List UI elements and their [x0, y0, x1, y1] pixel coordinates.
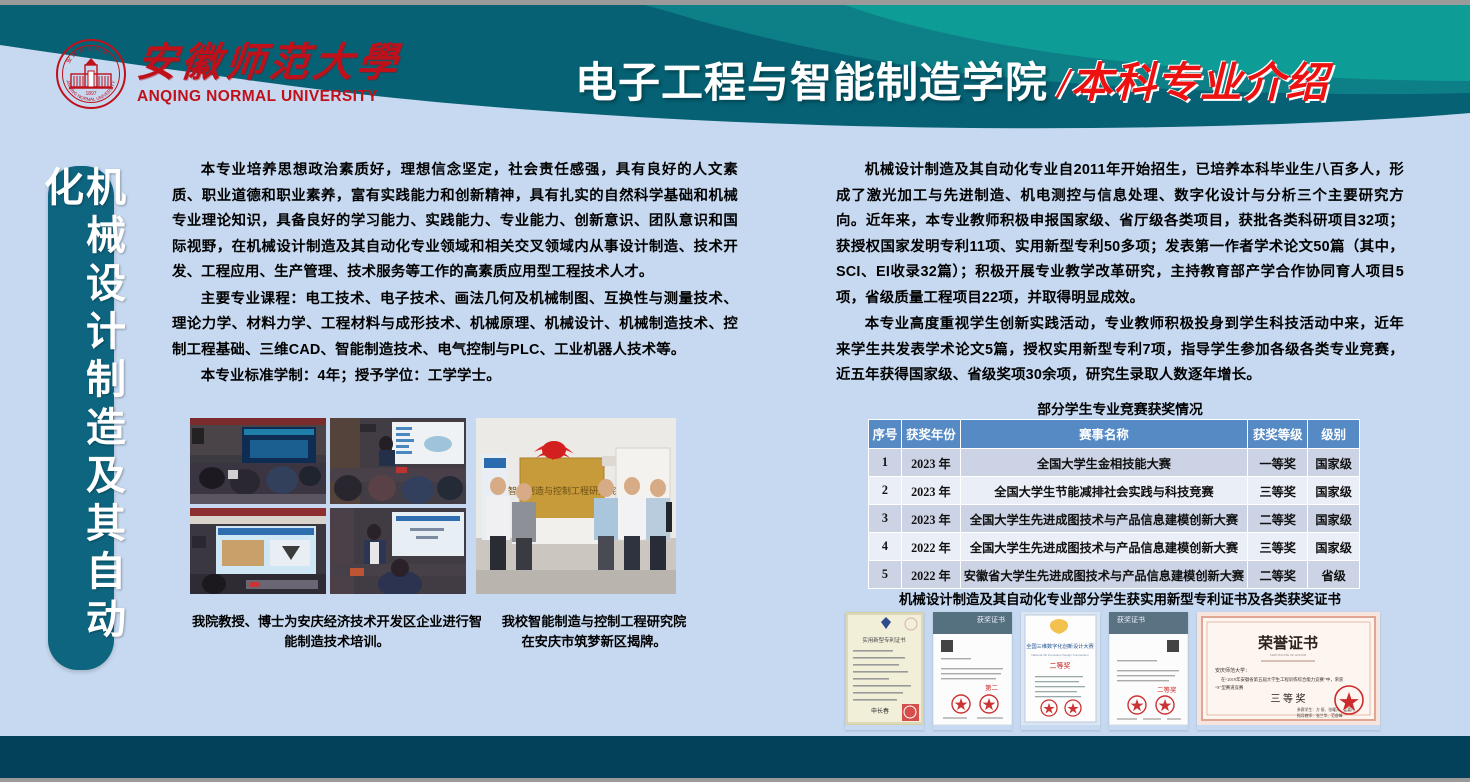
awards-cell-no: 2 [869, 477, 902, 505]
awards-cell-class: 国家级 [1308, 505, 1360, 533]
svg-text:安庆师范大学：: 安庆师范大学： [1215, 667, 1250, 674]
awards-cell-name: 全国大学生先进成图技术与产品信息建模创新大赛 [960, 533, 1247, 561]
awards-cell-level: 二等奖 [1248, 505, 1308, 533]
right-column: 机械设计制造及其自动化专业自2011年开始招生，已培养本科毕业生八百多人，形成了… [836, 158, 1404, 390]
awards-cell-level: 三等奖 [1248, 533, 1308, 561]
left-photo-caption-1: 我院教授、博士为安庆经济技术开发区企业进行智能制造技术培训。 [186, 612, 488, 652]
table-row: 2 2023 年 全国大学生节能减排社会实践与科技竞赛 三等奖 国家级 [869, 477, 1360, 505]
photo-training-lecture-audience [190, 418, 326, 504]
svg-text:申长春: 申长春 [871, 707, 889, 715]
awards-table-header-row: 序号 获奖年份 赛事名称 获奖等级 级别 [869, 420, 1360, 449]
awards-cell-no: 3 [869, 505, 902, 533]
awards-cell-year: 2022 年 [901, 533, 960, 561]
awards-cell-name: 全国大学生节能减排社会实践与科技竞赛 [960, 477, 1247, 505]
left-photo-caption-2: 我校智能制造与控制工程研究院在安庆市筑梦新区揭牌。 [496, 612, 692, 652]
poster-root: 1897 安 庆 师 范 大 学 ANQING NORMAL UNIVERSIT… [0, 0, 1470, 782]
university-name-block: 安徽师范大學 ANQING NORMAL UNIVERSITY [137, 43, 401, 105]
university-logo: 1897 安 庆 师 范 大 学 ANQING NORMAL UNIVERSIT… [55, 38, 401, 110]
svg-text:获奖证书: 获奖证书 [977, 615, 1005, 624]
table-row: 5 2022 年 安徽省大学生先进成图技术与产品信息建模创新大赛 二等奖 省级 [869, 561, 1360, 589]
right-paragraph-1: 机械设计制造及其自动化专业自2011年开始招生，已培养本科毕业生八百多人，形成了… [836, 158, 1404, 311]
footer-bar [0, 736, 1470, 778]
awards-cell-class: 国家级 [1308, 449, 1360, 477]
certificates-title: 机械设计制造及其自动化专业部分学生获实用新型专利证书及各类获奖证书 [836, 588, 1404, 608]
table-row: 3 2023 年 全国大学生先进成图技术与产品信息建模创新大赛 二等奖 国家级 [869, 505, 1360, 533]
university-name-en: ANQING NORMAL UNIVERSITY [137, 89, 378, 105]
photo-training-lecture-speaker [330, 418, 466, 504]
certificate-patent: 实用新型专利证书 申长春 [845, 612, 924, 730]
awards-cell-class: 国家级 [1308, 477, 1360, 505]
awards-table-title: 部分学生专业竞赛获奖情况 [836, 398, 1404, 418]
awards-cell-year: 2023 年 [901, 449, 960, 477]
svg-text:在“2019年安徽省第五届大学生工程训练综合能力竞赛”中，荣: 在“2019年安徽省第五届大学生工程训练综合能力竞赛”中，荣获 [1221, 676, 1344, 683]
awards-cell-level: 一等奖 [1248, 449, 1308, 477]
svg-text:实用新型专利证书: 实用新型专利证书 [862, 636, 906, 644]
awards-th-level: 获奖等级 [1248, 420, 1308, 449]
svg-text:“S”型赛道竞赛: “S”型赛道竞赛 [1215, 684, 1244, 691]
certificates-gallery: 实用新型专利证书 申长春 获奖证书 第二 [845, 612, 1380, 730]
svg-text:获奖证书: 获奖证书 [1117, 615, 1145, 624]
awards-cell-year: 2022 年 [901, 561, 960, 589]
awards-th-class: 级别 [1308, 420, 1360, 449]
photo-institute-unveiling-group: 智能制造与控制工程研究院 [476, 418, 676, 594]
major-vertical-tab-label: 机械设计制造及其自动化 [39, 166, 123, 670]
left-paragraph-1: 本专业培养思想政治素质好，理想信念坚定，社会责任感强，具有良好的人文素质、职业道… [172, 158, 738, 286]
awards-cell-year: 2023 年 [901, 477, 960, 505]
svg-text:指导教师：张兰华、范俊峰: 指导教师：张兰华、范俊峰 [1297, 713, 1343, 718]
page-title: 电子工程与智能制造学院/本科专业介绍 [575, 49, 1329, 110]
awards-cell-no: 4 [869, 533, 902, 561]
certificate-award-gray: 获奖证书 第二 [933, 612, 1012, 730]
awards-cell-name: 安徽省大学生先进成图技术与产品信息建模创新大赛 [960, 561, 1247, 589]
table-row: 1 2023 年 全国大学生金相技能大赛 一等奖 国家级 [869, 449, 1360, 477]
svg-text:National 3D Innovation Design: National 3D Innovation Design Competitio… [1031, 653, 1089, 657]
photo-training-presenter-standing [330, 508, 466, 594]
poster-header: 1897 安 庆 师 范 大 学 ANQING NORMAL UNIVERSIT… [0, 5, 1470, 135]
photo-quad-grid [190, 418, 466, 594]
major-vertical-tab: 机械设计制造及其自动化 [48, 166, 114, 670]
awards-cell-no: 1 [869, 449, 902, 477]
left-paragraph-2: 主要专业课程：电工技术、电子技术、画法几何及机械制图、互换性与测量技术、理论力学… [172, 287, 738, 364]
bottom-frame-bar [0, 778, 1470, 782]
table-row: 4 2022 年 全国大学生先进成图技术与产品信息建模创新大赛 三等奖 国家级 [869, 533, 1360, 561]
right-paragraph-2: 本专业高度重视学生创新实践活动，专业教师积极投身到学生科技活动中来，近年来学生共… [836, 312, 1404, 389]
left-column: 本专业培养思想政治素质好，理想信念坚定，社会责任感强，具有良好的人文素质、职业道… [172, 158, 738, 391]
awards-cell-name: 全国大学生先进成图技术与产品信息建模创新大赛 [960, 505, 1247, 533]
awards-cell-level: 二等奖 [1248, 561, 1308, 589]
university-name-cn: 安徽师范大學 [135, 43, 403, 83]
awards-cell-no: 5 [869, 561, 902, 589]
awards-cell-name: 全国大学生金相技能大赛 [960, 449, 1247, 477]
photo-training-slide-materials [190, 508, 326, 594]
svg-text:全国三维数字化创新设计大赛: 全国三维数字化创新设计大赛 [1026, 642, 1094, 650]
svg-text:三 等 奖: 三 等 奖 [1271, 692, 1306, 705]
svg-text:CERTIFICATE OF HONOR: CERTIFICATE OF HONOR [1270, 653, 1307, 657]
page-title-main: 电子工程与智能制造学院 [575, 61, 1048, 107]
left-photo-gallery: 智能制造与控制工程研究院 [190, 418, 676, 594]
awards-cell-year: 2023 年 [901, 505, 960, 533]
certificate-award-3d-design: 全国三维数字化创新设计大赛 National 3D Innovation Des… [1021, 612, 1100, 730]
honor-heading-text: 荣誉证书 [1257, 634, 1318, 652]
svg-text:二等奖: 二等奖 [1050, 661, 1071, 670]
awards-th-no: 序号 [869, 420, 902, 449]
svg-text:第二: 第二 [985, 683, 999, 692]
awards-cell-class: 国家级 [1308, 533, 1360, 561]
university-seal-icon: 1897 安 庆 师 范 大 学 ANQING NORMAL UNIVERSIT… [55, 38, 127, 110]
awards-th-name: 赛事名称 [960, 420, 1247, 449]
awards-th-year: 获奖年份 [901, 420, 960, 449]
awards-cell-class: 省级 [1308, 561, 1360, 589]
left-paragraph-3: 本专业标准学制：4年；授予学位：工学学士。 [172, 364, 738, 390]
page-title-sub: /本科专业介绍 [1058, 61, 1329, 107]
awards-cell-level: 三等奖 [1248, 477, 1308, 505]
certificate-honor: 荣誉证书 CERTIFICATE OF HONOR 安庆师范大学： 在“2019… [1197, 612, 1380, 730]
awards-table: 序号 获奖年份 赛事名称 获奖等级 级别 1 2023 年 全国大学生金相技能大… [868, 419, 1360, 589]
svg-text:二等奖: 二等奖 [1157, 685, 1177, 694]
certificate-award-gray-2: 获奖证书 二等奖 [1109, 612, 1188, 730]
seal-year-text: 1897 [85, 91, 96, 97]
